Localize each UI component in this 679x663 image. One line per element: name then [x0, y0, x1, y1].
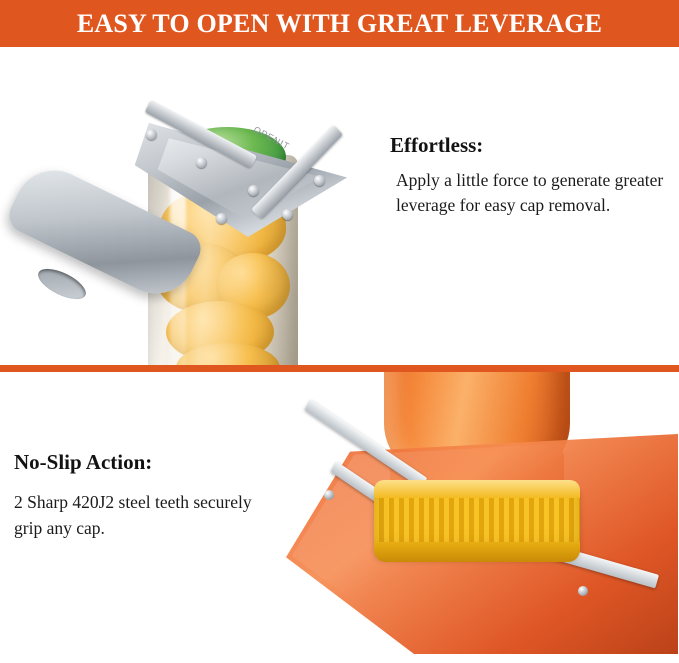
panel-effortless-text: Effortless: Apply a little force to gene…	[390, 133, 670, 219]
screw-icon	[324, 490, 334, 500]
screw-icon	[578, 586, 588, 596]
rivet-icon	[196, 157, 207, 168]
jar-opener-photo: OPENIT	[0, 47, 372, 365]
rivet-icon	[216, 213, 227, 224]
panel-no-slip: No-Slip Action: 2 Sharp 420J2 steel teet…	[0, 372, 679, 663]
yellow-jar-cap-top	[374, 480, 580, 498]
orange-jar-opener-photo	[278, 372, 679, 663]
section-divider	[0, 365, 679, 372]
feature-title-no-slip: No-Slip Action:	[14, 450, 282, 475]
rivet-icon	[282, 209, 293, 220]
rivet-icon	[146, 129, 157, 140]
feature-title-effortless: Effortless:	[390, 133, 670, 158]
panel-no-slip-text: No-Slip Action: 2 Sharp 420J2 steel teet…	[14, 450, 282, 542]
header-banner: EASY TO OPEN WITH GREAT LEVERAGE	[0, 0, 679, 47]
feature-body-no-slip: 2 Sharp 420J2 steel teeth securely grip …	[14, 489, 282, 542]
yellow-jar-cap-bottom	[374, 542, 580, 562]
product-feature-image: EASY TO OPEN WITH GREAT LEVERAGE	[0, 0, 679, 663]
rivet-icon	[314, 175, 325, 186]
rivet-icon	[248, 185, 259, 196]
handle-hang-hole	[34, 263, 90, 306]
panel-effortless: OPENIT Effortless: Apply a little force …	[0, 47, 679, 365]
banner-headline: EASY TO OPEN WITH GREAT LEVERAGE	[77, 9, 602, 39]
feature-body-effortless: Apply a little force to generate greater…	[390, 168, 670, 219]
